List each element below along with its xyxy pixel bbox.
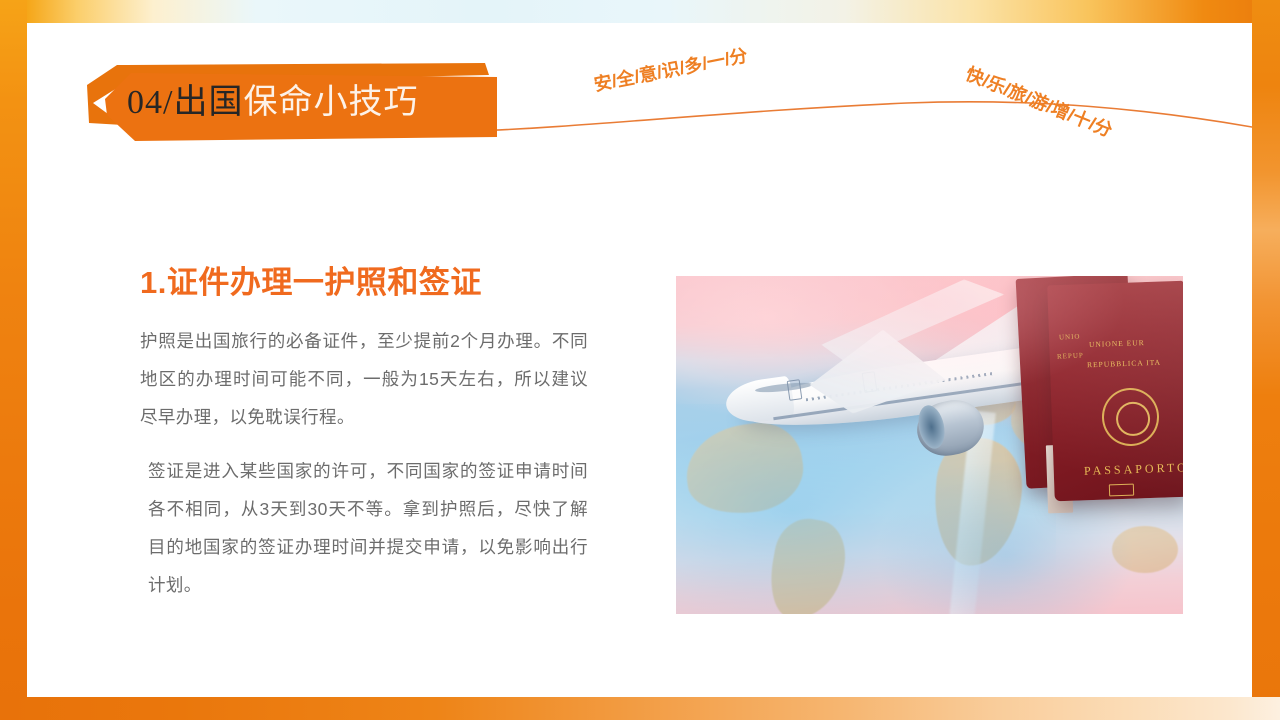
slide-body: 1.证件办理一护照和签证 护照是出国旅行的必备证件，至少提前2个月办理。不同地区… <box>27 153 1252 697</box>
body-heading: 1.证件办理一护照和签证 <box>140 266 600 300</box>
photo-inner: UNIO REPUP UNIONE EUR REPUBBLICA ITA PAS… <box>676 276 1183 614</box>
travel-photo: UNIO REPUP UNIONE EUR REPUBBLICA ITA PAS… <box>676 276 1183 614</box>
airplane-door-front <box>787 379 802 400</box>
border-band-bottom <box>0 697 1280 720</box>
content-panel: 04/出国保命小技巧 安/全/意/识/多/一/分 快/乐/旅/游/增/十/分 1… <box>27 23 1252 697</box>
slide-header: 04/出国保命小技巧 安/全/意/识/多/一/分 快/乐/旅/游/增/十/分 <box>27 23 1252 153</box>
passport-front-text-line1: UNIONE EUR <box>1089 338 1145 349</box>
border-band-left <box>0 0 27 720</box>
text-column: 1.证件办理一护照和签证 护照是出国旅行的必备证件，至少提前2个月办理。不同地区… <box>140 266 600 604</box>
section-title-dark: 出国 <box>173 84 243 121</box>
section-number: 04/ <box>127 84 173 121</box>
body-paragraph-1: 护照是出国旅行的必备证件，至少提前2个月办理。不同地区的办理时间可能不同，一般为… <box>140 322 588 436</box>
section-title-light: 保命小技巧 <box>243 84 418 121</box>
body-paragraph-2: 签证是进入某些国家的许可，不同国家的签证申请时间各不相同，从3天到30天不等。拿… <box>148 452 588 604</box>
border-band-top <box>0 0 1280 23</box>
section-title-text: 04/出国保命小技巧 <box>127 78 467 128</box>
border-band-right <box>1252 0 1280 720</box>
passport-biometric-chip-icon <box>1109 483 1134 496</box>
slide-root: 04/出国保命小技巧 安/全/意/识/多/一/分 快/乐/旅/游/增/十/分 1… <box>0 0 1280 720</box>
section-title-badge: 04/出国保命小技巧 <box>65 63 505 143</box>
passport-back-text-line2: REPUP <box>1057 351 1084 360</box>
